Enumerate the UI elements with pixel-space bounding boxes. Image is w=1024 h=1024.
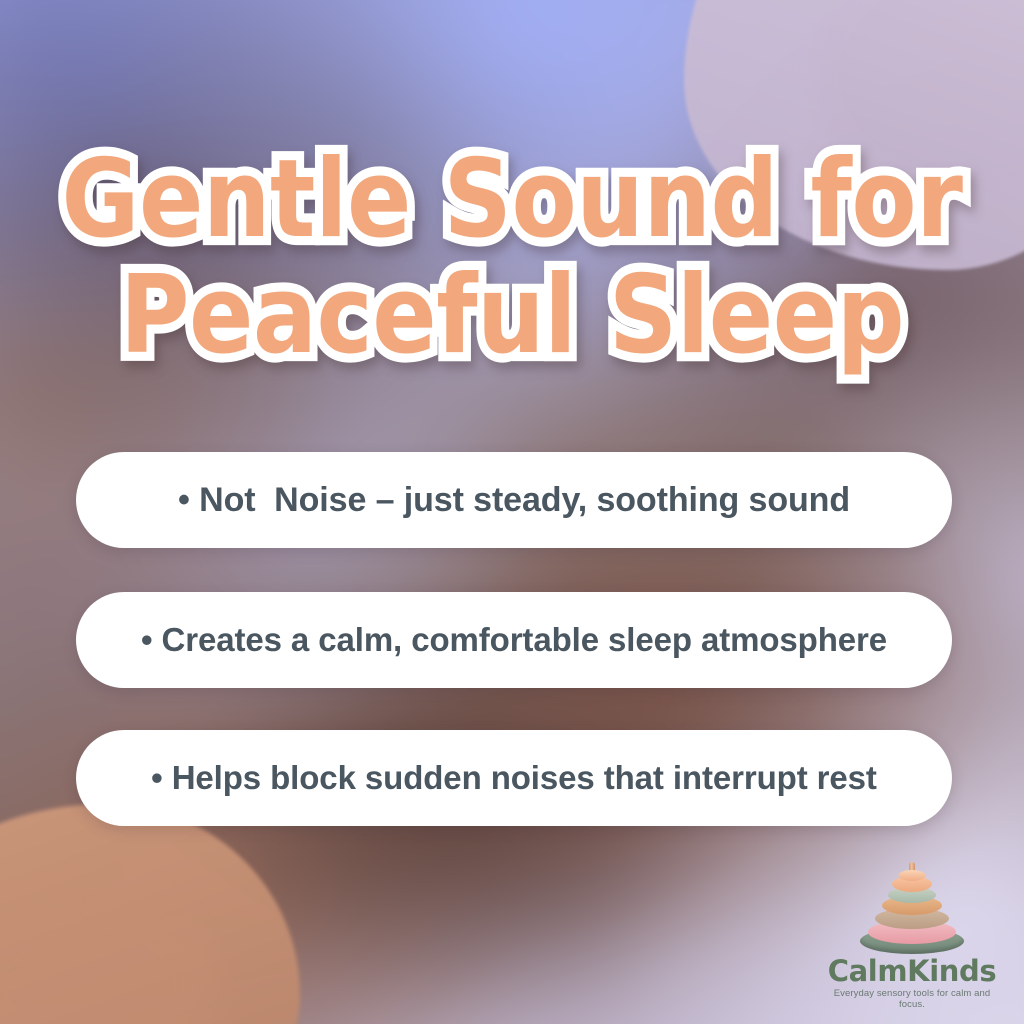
benefit-pill-1: • Not Noise – just steady, soothing soun…	[76, 452, 952, 548]
benefit-pill-1-text: • Not Noise – just steady, soothing soun…	[178, 481, 850, 520]
stacking-ring-toy-icon	[857, 862, 967, 954]
benefit-pill-3: • Helps block sudden noises that interru…	[76, 730, 952, 826]
sleep-sound-promo-poster: Gentle Sound for Peaceful Sleep • Not No…	[0, 0, 1024, 1024]
ring-top-cap	[899, 870, 926, 881]
brand-tagline: Everyday sensory tools for calm and focu…	[822, 988, 1002, 1010]
brand-name: CalmKinds	[822, 956, 1002, 986]
benefit-pill-2: • Creates a calm, comfortable sleep atmo…	[76, 592, 952, 688]
benefit-pill-2-text: • Creates a calm, comfortable sleep atmo…	[141, 621, 887, 659]
benefit-pill-3-text: • Helps block sudden noises that interru…	[151, 759, 877, 797]
brand-logo: CalmKinds Everyday sensory tools for cal…	[822, 862, 1002, 1010]
